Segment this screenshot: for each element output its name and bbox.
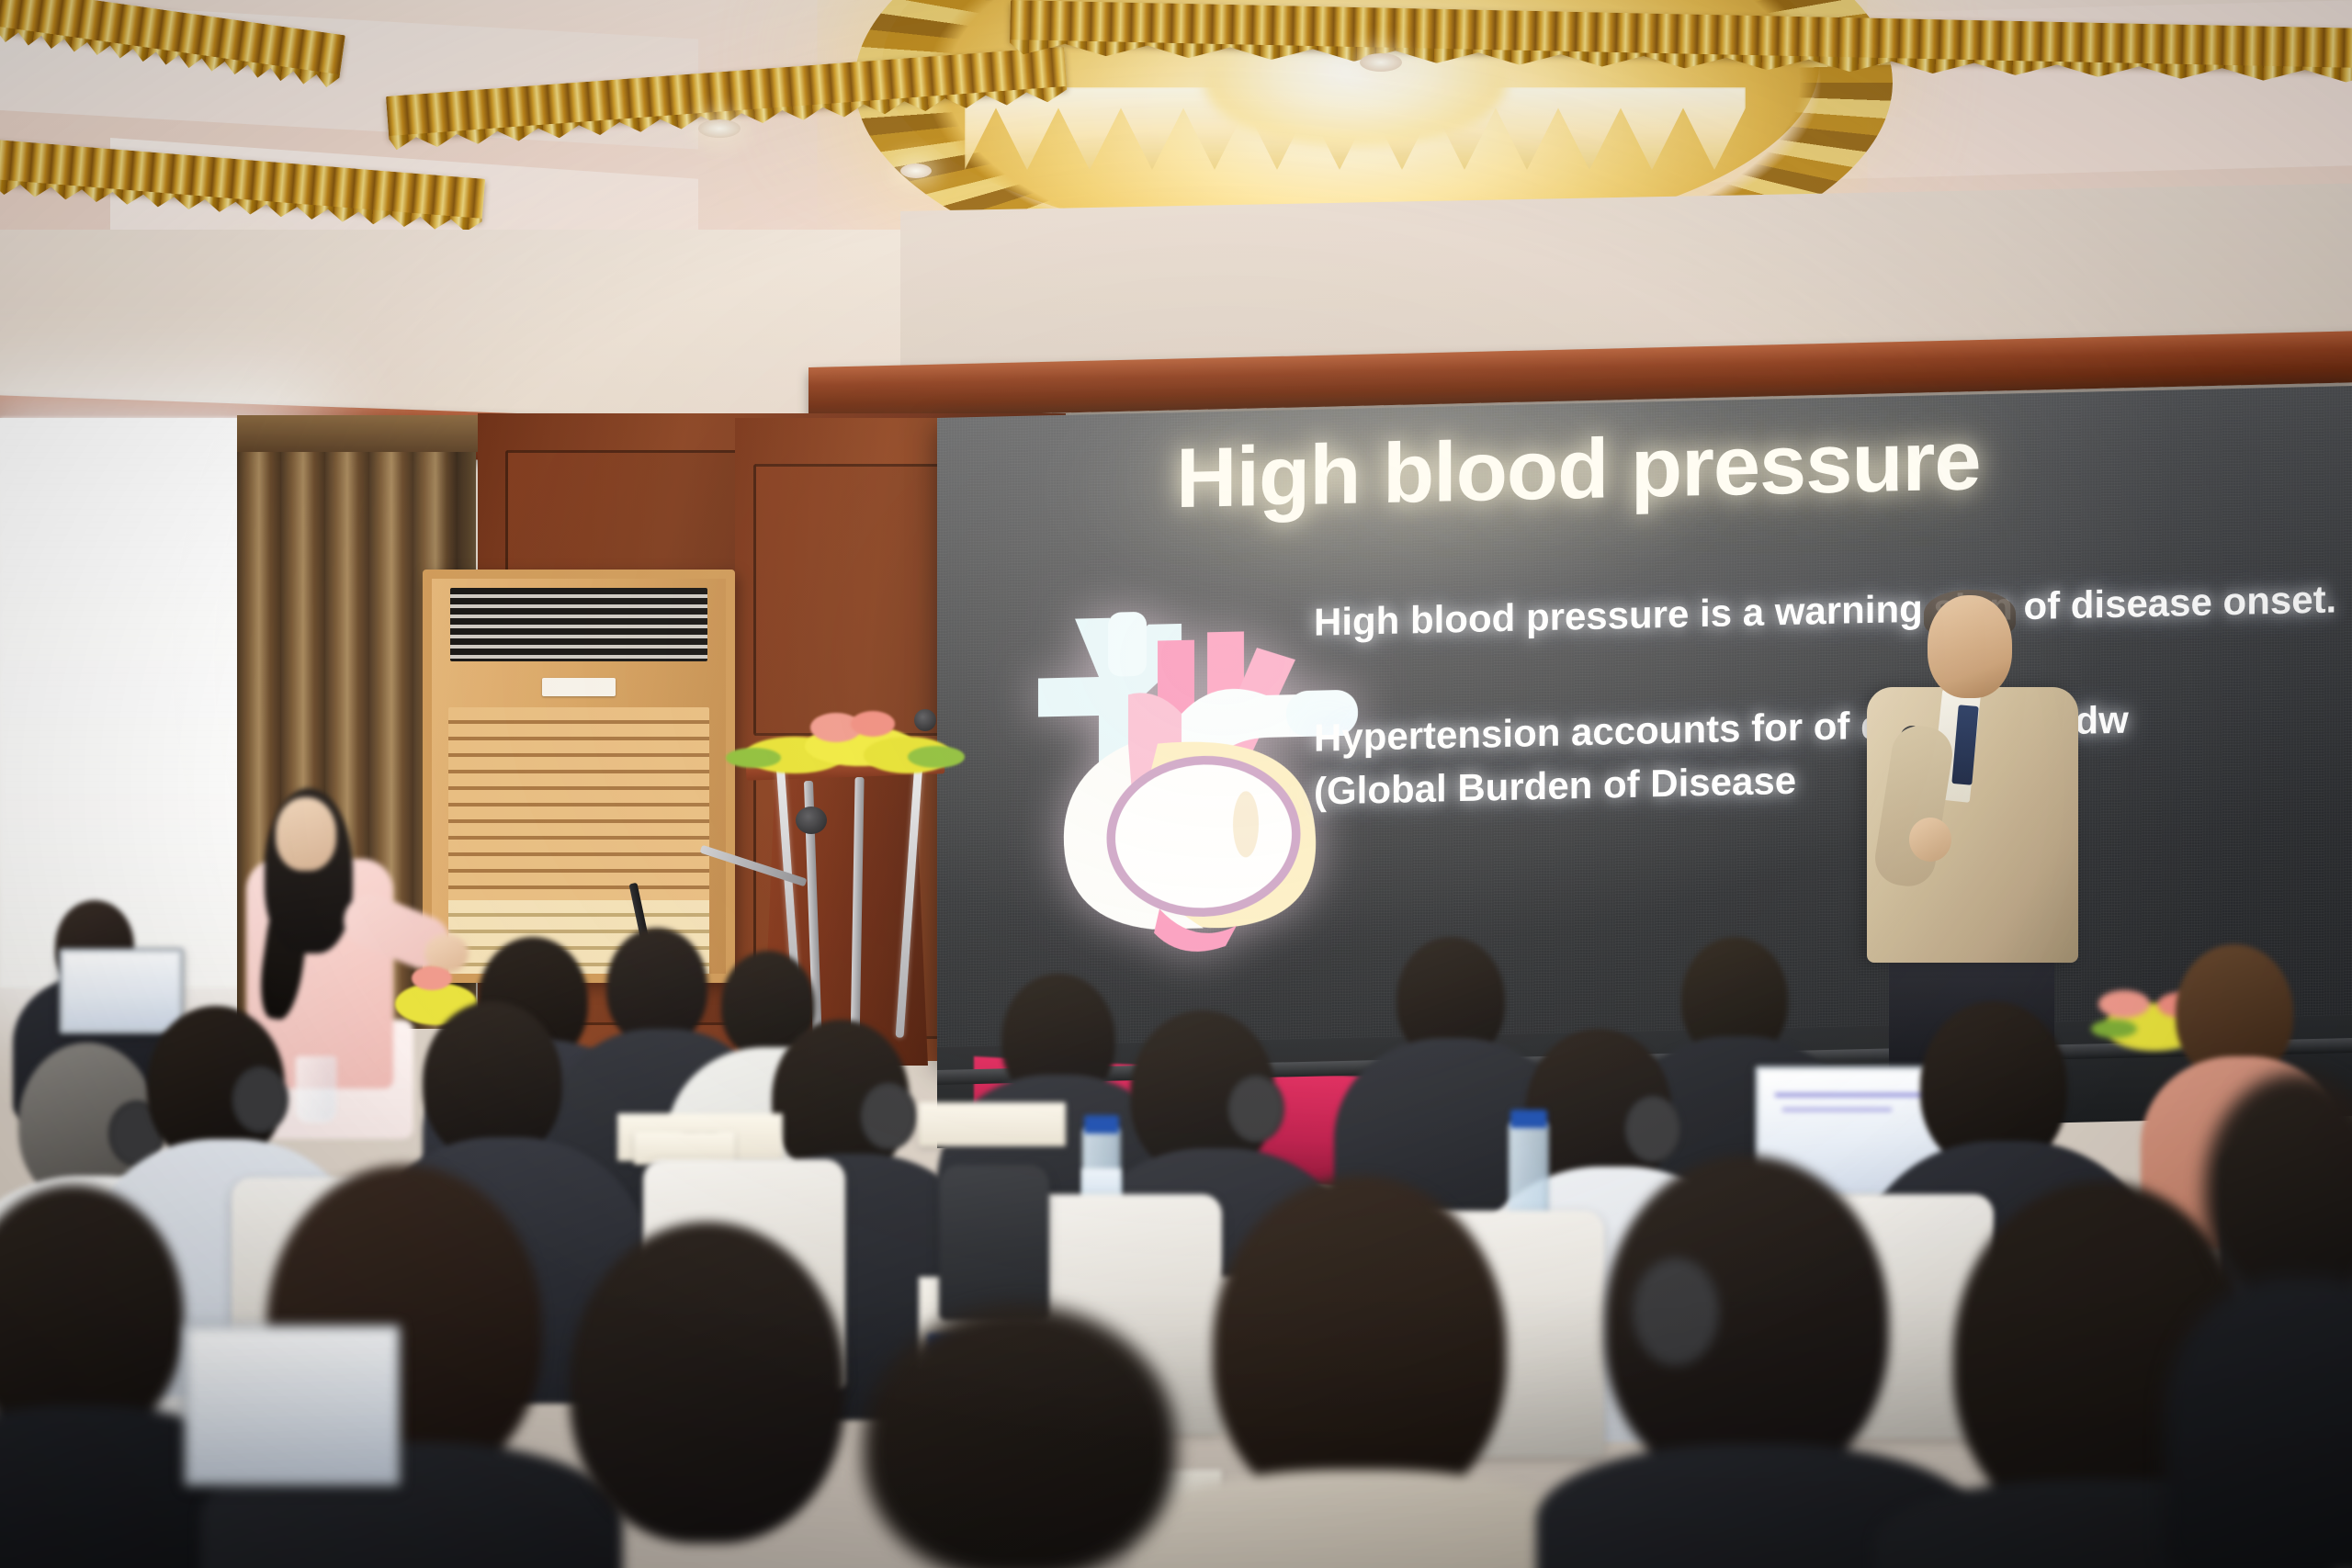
foliage [2091,1020,2137,1038]
laptop-content-line [1775,1093,1932,1097]
open-laptop [184,1325,401,1486]
banquet-chair [939,1165,1049,1321]
microphone-capsule [914,709,936,731]
table-flower [412,966,452,990]
led-presentation-screen: High blood pressure High blood pressure … [937,386,2352,1061]
foliage [726,748,781,768]
translation-headset [860,1082,917,1150]
presenter-head [1928,595,2012,698]
bottle-cap [1510,1110,1547,1128]
curtain-header [237,415,478,452]
recessed-downlight [1360,53,1402,72]
ac-grille [450,588,707,661]
foliage [908,746,965,768]
floor-standing-air-conditioner [423,570,735,983]
audience-head [606,928,707,1045]
audience-head [570,1222,845,1543]
hostess-head [276,797,336,871]
translation-headset [232,1066,288,1134]
sheer-curtain [0,418,248,987]
laptop-screen [64,953,178,1029]
translation-headset [1624,1095,1681,1163]
recessed-downlight [900,164,932,178]
conference-photo: High blood pressure High blood pressure … [0,0,2352,1568]
laptop-screen [189,1330,395,1481]
slide-title: High blood pressure [1176,412,1981,527]
presenter-hand [1909,818,1951,862]
laptop-content-line [1782,1108,1891,1111]
flower [851,711,895,737]
open-laptop [59,948,184,1034]
drinking-glass [296,1056,336,1122]
recessed-downlight [698,119,741,138]
audience-head [864,1304,1176,1568]
audience-head [1213,1176,1507,1516]
translation-headset [1632,1257,1720,1367]
ac-brand-label [542,678,616,696]
bottle-cap [1084,1115,1119,1134]
name-placard [919,1102,1066,1146]
microphone-capsule [796,807,827,834]
flower [2098,990,2150,1018]
translation-headset [1227,1075,1284,1143]
slide-body: High blood pressure is a warning sign of… [1314,572,2352,818]
